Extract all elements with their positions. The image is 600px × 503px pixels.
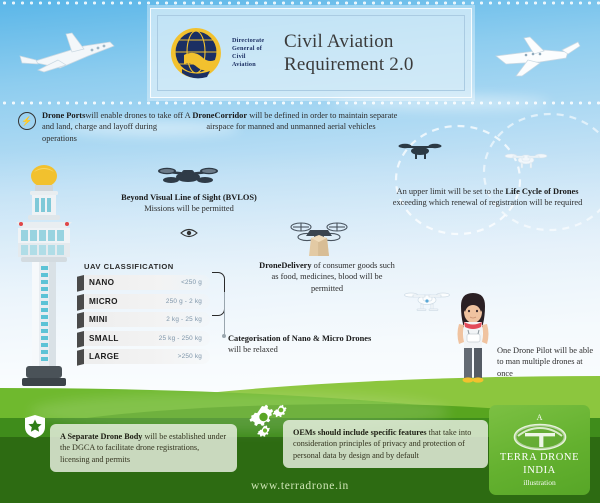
drone-delivery-text: DroneDelivery of consumer goods such as … xyxy=(258,260,396,294)
uav-row-weight: >250 kg xyxy=(178,353,210,360)
header-panel: Directorate General of Civil Aviation Ci… xyxy=(150,8,472,98)
drone-ports-text: Drone Portswill enable drones to take of… xyxy=(42,110,194,144)
pilot-quadcopter-icon xyxy=(404,288,450,314)
eye-icon xyxy=(180,228,198,238)
uav-row-name: LARGE xyxy=(84,352,119,361)
life-cycle-text: An upper limit will be set to the Life C… xyxy=(385,186,590,209)
drone-pilot-illustration xyxy=(447,290,499,396)
infographic-canvas: Directorate General of Civil Aviation Ci… xyxy=(0,0,600,503)
uav-row-weight: <250 g xyxy=(181,279,210,286)
table-row: MICRO 250 g - 2 kg xyxy=(84,294,210,309)
black-quadcopter-icon xyxy=(157,162,219,188)
airplane-left-icon xyxy=(14,28,126,84)
uav-row-name: SMALL xyxy=(84,334,119,343)
uav-row-name: MINI xyxy=(84,315,107,324)
brand-name-line2: INDIA xyxy=(523,465,556,477)
uav-row-weight: 250 g - 2 kg xyxy=(166,298,210,305)
dark-drone-icon xyxy=(398,138,442,162)
uav-row-name: MICRO xyxy=(84,297,118,306)
uav-row-weight: 2 kg - 25 kg xyxy=(166,316,210,323)
table-row: NANO <250 g xyxy=(84,275,210,290)
table-row: MINI 2 kg - 25 kg xyxy=(84,312,210,327)
footer-card-oem: OEMs should include specific features th… xyxy=(283,420,488,468)
site-url[interactable]: www.terradrone.in xyxy=(0,480,600,492)
uav-row-name: NANO xyxy=(84,278,114,287)
dotted-divider xyxy=(0,100,600,106)
dgca-logo-caption: Directorate General of Civil Aviation xyxy=(232,37,276,70)
bracket-connector-line xyxy=(224,292,225,336)
bracket-connector-dot xyxy=(222,334,226,338)
terra-drone-t-logo xyxy=(513,423,567,451)
categorisation-text: Categorisation of Nano & Micro Drones wi… xyxy=(228,333,376,356)
dotted-border-top xyxy=(0,0,600,6)
bolt-circle-icon: ⚡ xyxy=(18,112,36,130)
uav-row-weight: 25 kg - 250 kg xyxy=(159,335,210,342)
brand-name-line1: TERRA DRONE xyxy=(500,452,579,464)
shield-star-icon xyxy=(24,414,46,439)
dgca-globe-logo xyxy=(168,25,224,81)
bvlos-text: Beyond Visual Line of Sight (BVLOS) Miss… xyxy=(110,192,268,215)
drone-corridor-text: A DroneCorridor will be defined in order… xyxy=(182,110,400,133)
table-row: SMALL 25 kg - 250 kg xyxy=(84,331,210,346)
white-drone-icon xyxy=(505,148,547,172)
air-traffic-control-tower xyxy=(8,166,80,388)
one-pilot-text: One Drone Pilot will be able to man mult… xyxy=(497,345,595,379)
airplane-right-icon xyxy=(482,30,586,82)
footer-card-drone-body: A Separate Drone Body will be establishe… xyxy=(50,424,237,472)
delivery-drone-icon xyxy=(288,218,350,260)
table-row: LARGE >250 kg xyxy=(84,349,210,364)
uav-classification-table: UAV CLASSIFICATION NANO <250 g MICRO 250… xyxy=(84,262,210,368)
brand-prefix: A xyxy=(537,413,543,422)
page-title: Civil Aviation Requirement 2.0 xyxy=(284,30,414,76)
uav-classification-title: UAV CLASSIFICATION xyxy=(84,262,210,271)
